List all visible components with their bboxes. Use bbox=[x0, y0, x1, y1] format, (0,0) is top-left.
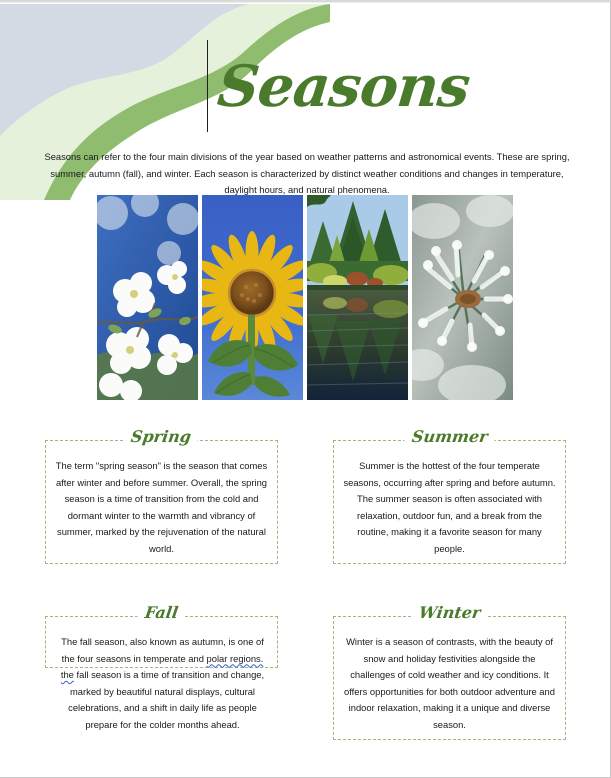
winter-text: Winter is a season of contrasts, with th… bbox=[342, 634, 557, 733]
fall-title-text: Fall bbox=[137, 604, 187, 622]
autumn-lake-photo bbox=[307, 195, 408, 400]
summer-text: Summer is the hottest of the four temper… bbox=[342, 458, 557, 557]
fall-text-after: fall season is a time of transition and … bbox=[68, 669, 264, 730]
summer-title: Summer bbox=[334, 428, 565, 447]
season-row-bottom: Fall The fall season, also known as autu… bbox=[0, 616, 611, 740]
season-image-strip bbox=[97, 195, 513, 400]
title-vertical-rule bbox=[207, 40, 208, 132]
season-card-summer: Summer Summer is the hottest of the four… bbox=[333, 440, 566, 564]
page-title: Seasons bbox=[215, 58, 472, 115]
season-cards: Spring The term "spring season" is the s… bbox=[0, 440, 611, 740]
winter-box: Winter Winter is a season of contrasts, … bbox=[333, 616, 566, 740]
winter-title: Winter bbox=[334, 604, 565, 623]
season-card-winter: Winter Winter is a season of contrasts, … bbox=[333, 616, 566, 740]
summer-box: Summer Summer is the hottest of the four… bbox=[333, 440, 566, 564]
title-block: Seasons bbox=[207, 40, 469, 132]
spring-title: Spring bbox=[46, 428, 277, 447]
fall-text: The fall season, also known as autumn, i… bbox=[54, 634, 271, 733]
season-card-spring: Spring The term "spring season" is the s… bbox=[45, 440, 278, 564]
spring-blossoms-photo bbox=[97, 195, 198, 400]
winter-title-text: Winter bbox=[411, 604, 489, 622]
spring-title-text: Spring bbox=[123, 428, 200, 446]
season-row-top: Spring The term "spring season" is the s… bbox=[0, 440, 611, 564]
season-card-fall: Fall The fall season, also known as autu… bbox=[45, 616, 278, 740]
document-page: Seasons Seasons can refer to the four ma… bbox=[0, 0, 611, 778]
fall-box: Fall The fall season, also known as autu… bbox=[45, 616, 278, 668]
winter-frost-photo bbox=[412, 195, 513, 400]
summer-title-text: Summer bbox=[403, 428, 495, 446]
intro-paragraph: Seasons can refer to the four main divis… bbox=[38, 149, 576, 199]
spring-text: The term "spring season" is the season t… bbox=[54, 458, 269, 557]
spring-box: Spring The term "spring season" is the s… bbox=[45, 440, 278, 564]
summer-sunflower-photo bbox=[202, 195, 303, 400]
fall-title: Fall bbox=[46, 604, 277, 623]
